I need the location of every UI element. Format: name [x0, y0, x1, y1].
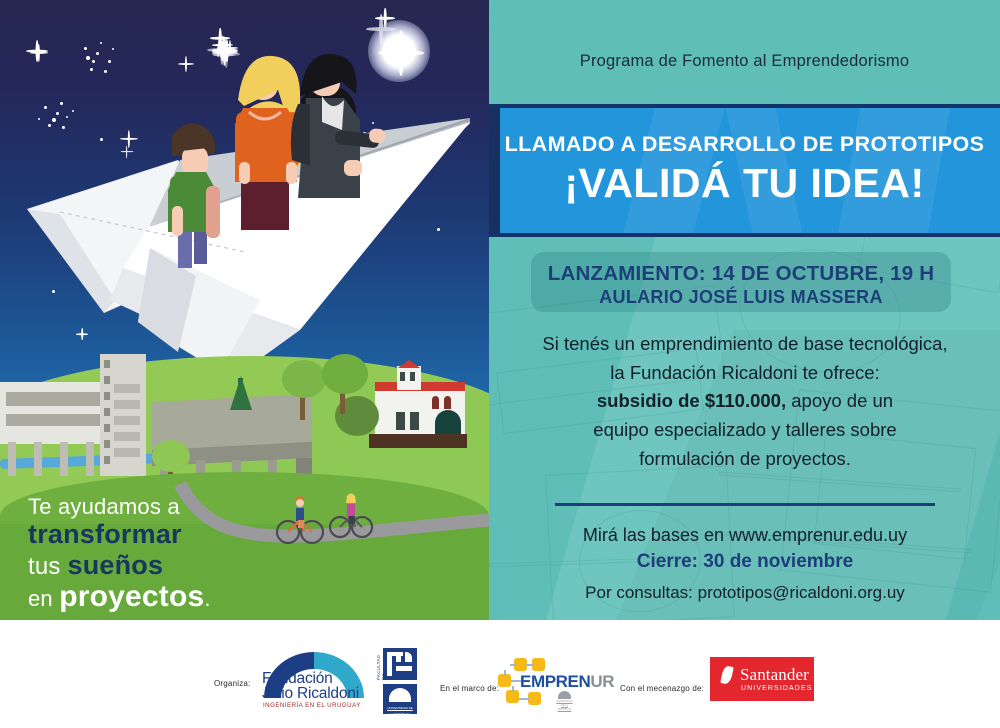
- banner-line2: ¡VALIDÁ TU IDEA!: [489, 160, 1000, 207]
- poster-root: Te ayudamos a transformar tus sueños en …: [0, 0, 1000, 728]
- emprenur-udelar-text: UNIVERSIDAD DE LA REPÚBLICA: [556, 700, 573, 704]
- person2-sleeve-l: [236, 112, 250, 168]
- ricaldoni-line2: Julio Ricaldoni: [262, 685, 359, 703]
- body-line4: equipo especializado y talleres sobre: [515, 416, 975, 445]
- emprenur-wordmark: EMPRENUR: [520, 672, 614, 692]
- emprenur-udelar-icon: UNIVERSIDAD DE LA REPÚBLICA: [556, 690, 573, 705]
- launch-line2: AULARIO JOSÉ LUIS MASSERA: [531, 287, 951, 308]
- santander-logo: Santander UNIVERSIDADES: [710, 657, 814, 701]
- tagline-line1: Te ayudamos a: [28, 495, 211, 520]
- campus-landscape: Te ayudamos a transformar tus sueños en …: [0, 342, 489, 642]
- person1-sleeve: [170, 176, 183, 210]
- person1-arm-far: [206, 186, 220, 238]
- santander-sub: UNIVERSIDADES: [741, 685, 812, 692]
- tagline-line4: en proyectos.: [28, 580, 211, 614]
- bases-block: Mirá las bases en www.emprenur.edu.uy Ci…: [515, 522, 975, 576]
- body-line3: subsidio de $110.000, apoyo de un: [515, 387, 975, 416]
- cyclist-hair: [346, 494, 356, 504]
- banner-line1: LLAMADO A DESARROLLO DE PROTOTIPOS: [489, 132, 1000, 157]
- fing-udelar-logos: FACULTAD DE INGENIERÍA UNIVERSIDAD DE LA…: [375, 648, 417, 714]
- content-panel: Programa de Fomento al Emprendedorismo L…: [489, 0, 1000, 642]
- udelar-emblem-icon: UNIVERSIDAD DE LA REPÚBLICA: [383, 684, 417, 714]
- ricaldoni-logo: Fundación Julio Ricaldoni INGENIERÍA EN …: [258, 650, 370, 712]
- person3-hand2: [344, 160, 362, 176]
- launch-line1: LANZAMIENTO: 14 DE OCTUBRE, 19 H: [531, 262, 951, 286]
- bases-url-line[interactable]: Mirá las bases en www.emprenur.edu.uy: [515, 522, 975, 548]
- cyclist-torso: [347, 504, 355, 517]
- fing-side-text: FACULTAD DE INGENIERÍA: [376, 649, 383, 680]
- headline-banner: LLAMADO A DESARROLLO DE PROTOTIPOS ¡VALI…: [489, 104, 1000, 237]
- organiza-label: Organiza:: [214, 679, 250, 688]
- emprenur-logo: EMPRENUR UNIVERSIDAD DE LA REPÚBLICA: [498, 658, 606, 710]
- cyclist-male: [277, 498, 323, 544]
- divider-rule: [555, 503, 935, 506]
- cyclist-female: [330, 494, 372, 538]
- paper-plane-illustration: [0, 0, 489, 400]
- program-kicker: Programa de Fomento al Emprendedorismo: [489, 52, 1000, 71]
- tagline-line3-bold: sueños: [67, 550, 163, 580]
- contact-line[interactable]: Por consultas: prototipos@ricaldoni.org.…: [515, 583, 975, 603]
- cyclist-torso: [296, 508, 304, 521]
- body-line2: la Fundación Ricaldoni te ofrece:: [515, 359, 975, 388]
- body-line5: formulación de proyectos.: [515, 445, 975, 474]
- body-line1: Si tenés un emprendimiento de base tecno…: [515, 330, 975, 359]
- body-line3-rest: apoyo de un: [786, 390, 893, 411]
- person1-head: [182, 146, 208, 176]
- tagline-line2: transformar: [28, 519, 211, 549]
- tagline-line4-light: en: [28, 586, 59, 611]
- emprenur-name-gray: UR: [590, 672, 614, 691]
- tagline-block: Te ayudamos a transformar tus sueños en …: [28, 495, 211, 614]
- mecenazgo-label: Con el mecenazgo de:: [620, 684, 704, 693]
- emprenur-connector: [526, 664, 534, 666]
- emprenur-connector: [519, 698, 529, 700]
- illustration-panel: Te ayudamos a transformar tus sueños en …: [0, 0, 489, 642]
- emprenur-square-icon: [528, 692, 541, 705]
- emprenur-connector: [510, 664, 516, 666]
- body-copy: Si tenés un emprendimiento de base tecno…: [515, 330, 975, 473]
- ricaldoni-tagline: INGENIERÍA EN EL URUGUAY: [263, 702, 361, 709]
- launch-info-box: LANZAMIENTO: 14 DE OCTUBRE, 19 H AULARIO…: [531, 252, 951, 312]
- person2-hand-r: [286, 162, 297, 184]
- person2-hand-l: [239, 162, 250, 184]
- tagline-line4-dot: .: [204, 586, 210, 611]
- subsidy-amount: subsidio de $110.000,: [597, 390, 786, 411]
- emprenur-connector: [504, 670, 506, 676]
- tagline-line4-bold: proyectos: [59, 580, 204, 613]
- person1-arm: [172, 206, 183, 236]
- cyclist-legs: [349, 516, 355, 524]
- santander-flame-icon: [719, 666, 735, 684]
- person2-skirt: [241, 178, 289, 230]
- deadline-line: Cierre: 30 de noviembre: [515, 548, 975, 576]
- santander-name: Santander: [740, 665, 809, 685]
- tagline-line3-light: tus: [28, 553, 67, 580]
- emprenur-connector: [512, 686, 514, 692]
- cyclist-legs: [298, 520, 304, 528]
- udelar-emblem-text: UNIVERSIDAD DE LA REPÚBLICA: [386, 705, 414, 711]
- emprenur-name-blue: EMPREN: [520, 672, 590, 691]
- tagline-line3: tus sueños: [28, 550, 211, 581]
- fing-emblem-icon: [383, 648, 417, 680]
- marco-label: En el marco de:: [440, 684, 499, 693]
